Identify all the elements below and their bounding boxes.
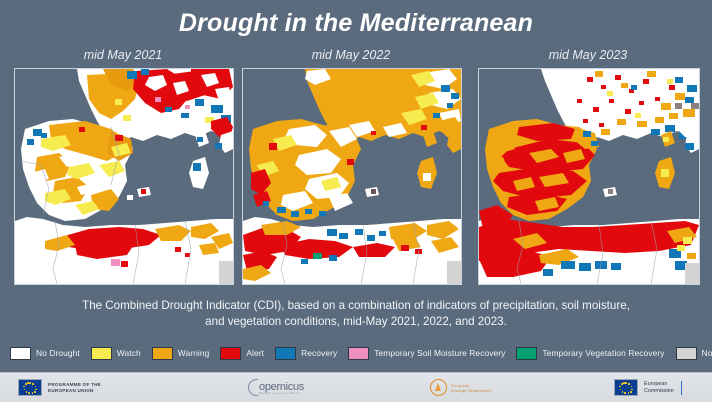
panel-label-2022: mid May 2022 [242, 48, 460, 62]
legend-swatch-no-data [676, 347, 697, 360]
map-canvas-2021 [15, 69, 233, 284]
copernicus-tagline: Europe's eyes on Earth [259, 391, 304, 395]
ec-flag-icon [614, 379, 638, 396]
eu-programme-line-2: EUROPEAN UNION [48, 388, 101, 394]
copernicus-arc-icon [248, 379, 258, 396]
legend-label-watch: Watch [117, 348, 141, 358]
poster-root: Drought in the Mediterranean mid May 202… [0, 0, 712, 401]
european-commission-logo: European Commission [614, 373, 682, 402]
legend-item-no-data: No data [676, 347, 712, 360]
drought-observatory-icon [430, 379, 447, 396]
legend-swatch-watch [91, 347, 112, 360]
legend-label-alert: Alert [246, 348, 264, 358]
drought-observatory-text: European Drought Observatory [451, 383, 492, 393]
legend-label-temporary-soil-moisture-recovery: Temporary Soil Moisture Recovery [374, 348, 505, 358]
page-title: Drought in the Mediterranean [0, 9, 712, 38]
legend-label-recovery: Recovery [301, 348, 337, 358]
legend-label-no-data: No data [702, 348, 712, 358]
copernicus-logo: opernicus Europe's eyes on Earth [248, 373, 304, 402]
map-panel-2022[interactable] [242, 68, 462, 285]
drought-observatory-line-2: Drought Observatory [451, 388, 492, 393]
eu-programme-text: PROGRAMME OF THE EUROPEAN UNION [48, 382, 101, 394]
european-commission-line-2: Commission [644, 388, 674, 395]
map-canvas-2022 [243, 69, 461, 284]
legend-item-temporary-soil-moisture-recovery: Temporary Soil Moisture Recovery [348, 347, 505, 360]
eu-programme-line-1: PROGRAMME OF THE [48, 382, 101, 388]
legend-swatch-alert [220, 347, 241, 360]
caption-line-2: and vegetation conditions, mid-May 2021,… [22, 314, 690, 330]
copernicus-wordmark-wrap: opernicus Europe's eyes on Earth [259, 381, 304, 395]
legend-item-temporary-vegetation-recovery: Temporary Vegetation Recovery [516, 347, 664, 360]
legend-label-warning: Warning [178, 348, 210, 358]
eu-flag-icon [18, 379, 42, 396]
legend-item-warning: Warning [152, 347, 210, 360]
legend-swatch-warning [152, 347, 173, 360]
legend-label-no-drought: No Drought [36, 348, 80, 358]
european-commission-text: European Commission [644, 381, 674, 395]
panel-label-2023: mid May 2023 [478, 48, 698, 62]
legend-item-recovery: Recovery [275, 347, 337, 360]
map-canvas-2023 [479, 69, 699, 284]
caption-line-1: The Combined Drought Indicator (CDI), ba… [22, 298, 690, 314]
ec-accent-bar [681, 381, 683, 395]
legend-label-temporary-vegetation-recovery: Temporary Vegetation Recovery [542, 348, 664, 358]
panel-label-2021: mid May 2021 [14, 48, 232, 62]
map-panel-2021[interactable] [14, 68, 234, 285]
european-commission-line-1: European [644, 381, 674, 388]
legend-swatch-no-drought [10, 347, 31, 360]
legend: No Drought Watch Warning Alert Recovery … [10, 345, 704, 361]
legend-item-watch: Watch [91, 347, 141, 360]
european-drought-observatory-logo: European Drought Observatory [430, 373, 492, 402]
eu-stars [19, 380, 41, 395]
footer-bar: PROGRAMME OF THE EUROPEAN UNION opernicu… [0, 372, 712, 402]
legend-item-alert: Alert [220, 347, 264, 360]
legend-swatch-temporary-vegetation-recovery [516, 347, 537, 360]
caption: The Combined Drought Indicator (CDI), ba… [22, 298, 690, 330]
map-panel-2023[interactable] [478, 68, 700, 285]
legend-swatch-recovery [275, 347, 296, 360]
ec-stars [615, 380, 637, 395]
eu-programme-logo: PROGRAMME OF THE EUROPEAN UNION [18, 373, 101, 402]
legend-item-no-drought: No Drought [10, 347, 80, 360]
legend-swatch-temporary-soil-moisture-recovery [348, 347, 369, 360]
